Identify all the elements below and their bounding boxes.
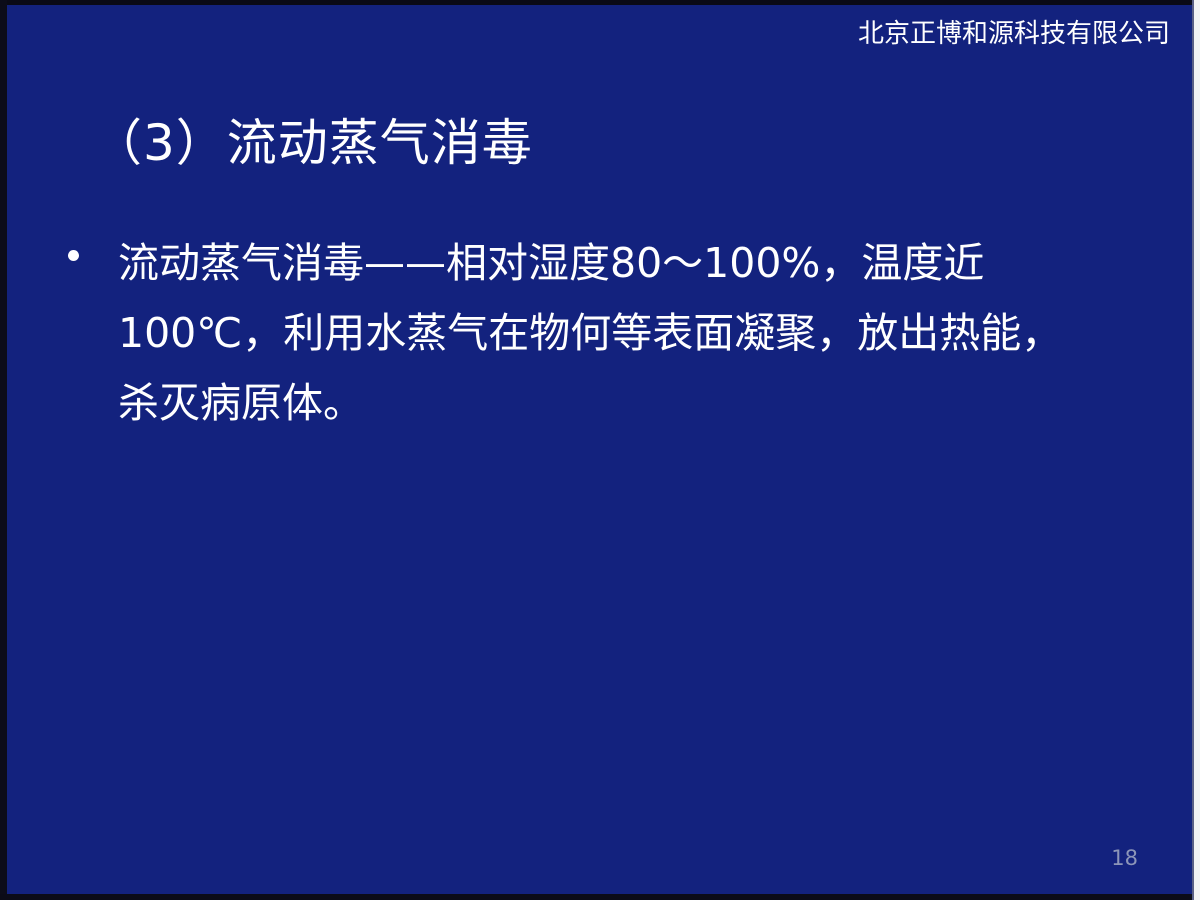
company-header: 北京正博和源科技有限公司 <box>858 19 1170 49</box>
slide-border-left <box>0 0 7 900</box>
slide-border-top <box>0 0 1200 5</box>
slide-border-bottom <box>0 894 1200 900</box>
page-number: 18 <box>1111 846 1138 870</box>
presentation-slide: 北京正博和源科技有限公司 （3）流动蒸气消毒 流动蒸气消毒——相对湿度80～10… <box>0 0 1200 900</box>
disc-bullet-icon <box>68 250 79 261</box>
bullet-line: 100℃，利用水蒸气在物何等表面凝聚，放出热能， <box>118 298 1142 368</box>
bullet-paragraph: 流动蒸气消毒——相对湿度80～100%，温度近 100℃，利用水蒸气在物何等表面… <box>62 228 1142 438</box>
slide-body: 流动蒸气消毒——相对湿度80～100%，温度近 100℃，利用水蒸气在物何等表面… <box>62 228 1142 438</box>
bullet-line: 流动蒸气消毒——相对湿度80～100%，温度近 <box>118 228 1142 298</box>
bullet-line: 杀灭病原体。 <box>118 368 1142 438</box>
page-title: （3）流动蒸气消毒 <box>92 112 533 174</box>
slide-border-right <box>1194 0 1200 900</box>
list-item: 流动蒸气消毒——相对湿度80～100%，温度近 100℃，利用水蒸气在物何等表面… <box>62 228 1142 438</box>
